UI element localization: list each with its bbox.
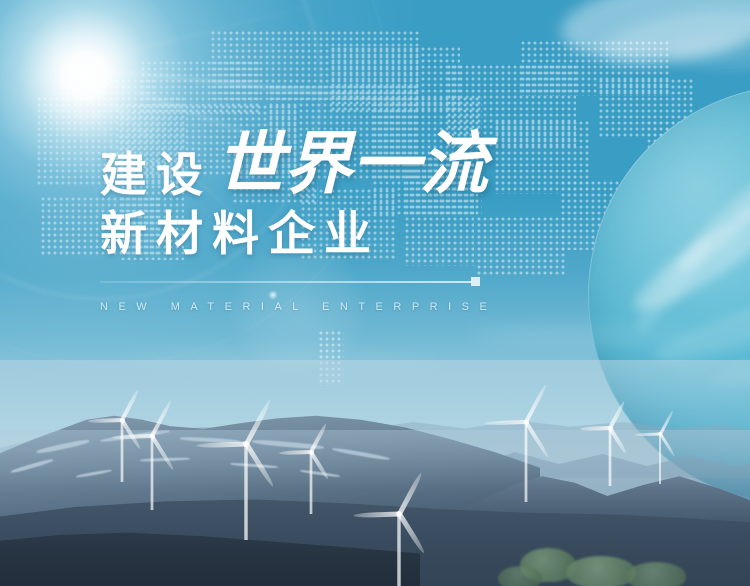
turbine-mast	[151, 436, 154, 510]
turbine-blade	[279, 450, 311, 455]
headline-line-2: 新材料企业	[100, 210, 520, 257]
headline-block: 建设 世界一流 新材料企业 NEW MATERIAL ENTERPRISE	[100, 128, 520, 313]
turbine-mast	[310, 452, 313, 514]
headline-divider	[100, 281, 472, 283]
turbine-mast	[244, 444, 248, 540]
turbine-blade	[397, 472, 423, 515]
shrub	[626, 562, 686, 586]
headline-line-1: 建设 世界一流	[100, 128, 520, 198]
turbine-mast	[397, 514, 401, 586]
turbine-2	[112, 396, 192, 510]
turbine-blade	[353, 512, 399, 519]
turbine-5	[279, 420, 343, 514]
headline-prefix: 建设	[100, 151, 212, 198]
horizon-haze-band	[120, 352, 440, 368]
headline-emphasis: 世界一流	[216, 130, 488, 198]
headline-subtitle: NEW MATERIAL ENTERPRISE	[100, 301, 520, 313]
turbine-blade	[309, 423, 328, 453]
shrub	[498, 566, 542, 586]
turbine-blade	[397, 513, 426, 555]
turbine-blade	[150, 400, 172, 437]
turbine-hub	[309, 450, 314, 455]
horizon-haze-band	[470, 326, 700, 346]
shrub	[566, 556, 636, 586]
hero-banner: 建设 世界一流 新材料企业 NEW MATERIAL ENTERPRISE	[0, 0, 750, 586]
turbine-hub	[243, 441, 249, 447]
divider-end-cap	[471, 277, 480, 286]
turbine-blade	[112, 434, 152, 439]
turbine-blade	[244, 399, 272, 445]
turbine-hub	[396, 511, 402, 517]
turbine-blade	[196, 442, 246, 449]
turbine-hub	[150, 434, 155, 439]
turbine-blade	[244, 443, 275, 488]
turbine-blade	[150, 435, 175, 471]
